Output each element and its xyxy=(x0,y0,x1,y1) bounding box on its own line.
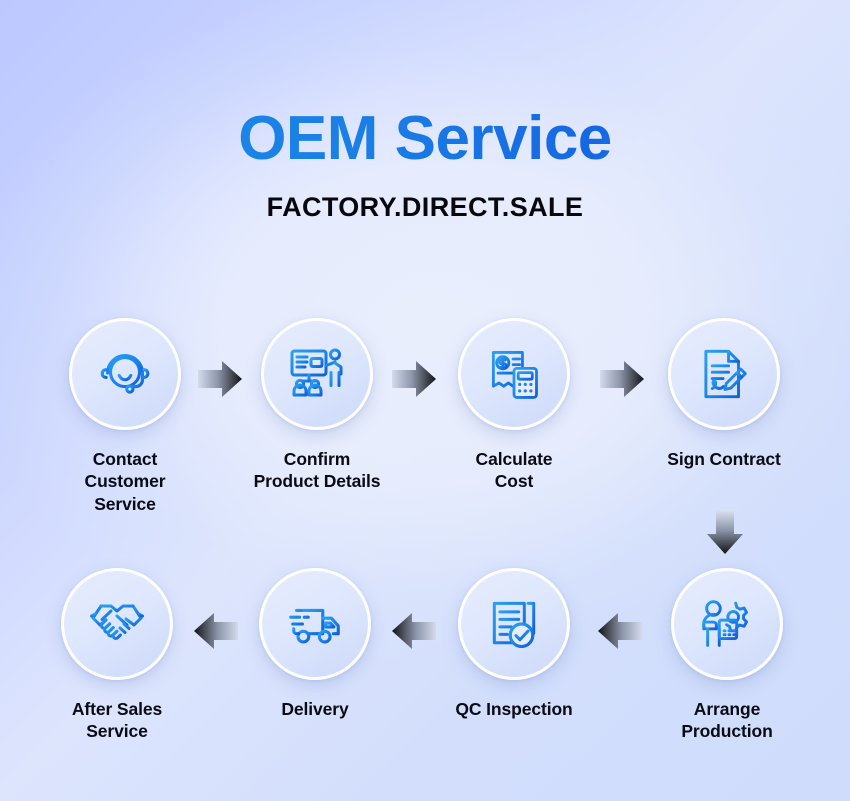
page-title: OEM Service xyxy=(0,0,850,170)
icon-bubble xyxy=(458,318,570,430)
arrow-left-icon xyxy=(596,608,644,659)
flow-step-label: ContactCustomerService xyxy=(35,448,215,515)
icon-bubble xyxy=(458,568,570,680)
flow-step-contact-customer-service[interactable]: ContactCustomerService xyxy=(35,318,215,515)
flow-step-label: ArrangeProduction xyxy=(637,698,817,743)
arrow-left-icon xyxy=(390,608,438,659)
page-subtitle: FACTORY.DIRECT.SALE xyxy=(0,170,850,223)
flow-step-label: CalculateCost xyxy=(424,448,604,493)
icon-bubble xyxy=(259,568,371,680)
icon-bubble xyxy=(69,318,181,430)
flow-row-top: ContactCustomerService xyxy=(0,318,850,518)
arrow-left-icon xyxy=(192,608,240,659)
flow-step-delivery[interactable]: Delivery xyxy=(225,568,405,720)
icon-bubble xyxy=(261,318,373,430)
flow-step-label: Delivery xyxy=(225,698,405,720)
headset-support-icon xyxy=(94,343,156,405)
delivery-truck-icon xyxy=(284,593,346,655)
arrow-right-icon xyxy=(598,356,646,407)
arrow-right-icon xyxy=(196,356,244,407)
arrow-right-icon xyxy=(390,356,438,407)
arrow-down-icon xyxy=(702,508,748,561)
icon-bubble xyxy=(671,568,783,680)
flow-row-bottom: After SalesService Delivery xyxy=(0,568,850,768)
worker-gear-production-icon xyxy=(696,593,758,655)
icon-bubble xyxy=(668,318,780,430)
flow-step-confirm-product-details[interactable]: ConfirmProduct Details xyxy=(227,318,407,493)
flow-step-label: QC Inspection xyxy=(424,698,604,720)
oem-service-infographic: OEM Service FACTORY.DIRECT.SALE xyxy=(0,0,850,801)
icon-bubble xyxy=(61,568,173,680)
header: OEM Service FACTORY.DIRECT.SALE xyxy=(0,0,850,223)
flow-step-calculate-cost[interactable]: CalculateCost xyxy=(424,318,604,493)
flow-step-label: After SalesService xyxy=(27,698,207,743)
checklist-approved-icon xyxy=(484,594,544,654)
flow-step-label: ConfirmProduct Details xyxy=(227,448,407,493)
invoice-calculator-icon xyxy=(484,344,544,404)
presentation-meeting-icon xyxy=(285,342,349,406)
flow-step-after-sales-service[interactable]: After SalesService xyxy=(27,568,207,743)
contract-signature-pen-icon xyxy=(695,345,753,403)
flow-step-label: Sign Contract xyxy=(634,448,814,470)
flow-step-sign-contract[interactable]: Sign Contract xyxy=(634,318,814,470)
flow-step-qc-inspection[interactable]: QC Inspection xyxy=(424,568,604,720)
handshake-icon xyxy=(85,592,149,656)
flow-step-arrange-production[interactable]: ArrangeProduction xyxy=(637,568,817,743)
